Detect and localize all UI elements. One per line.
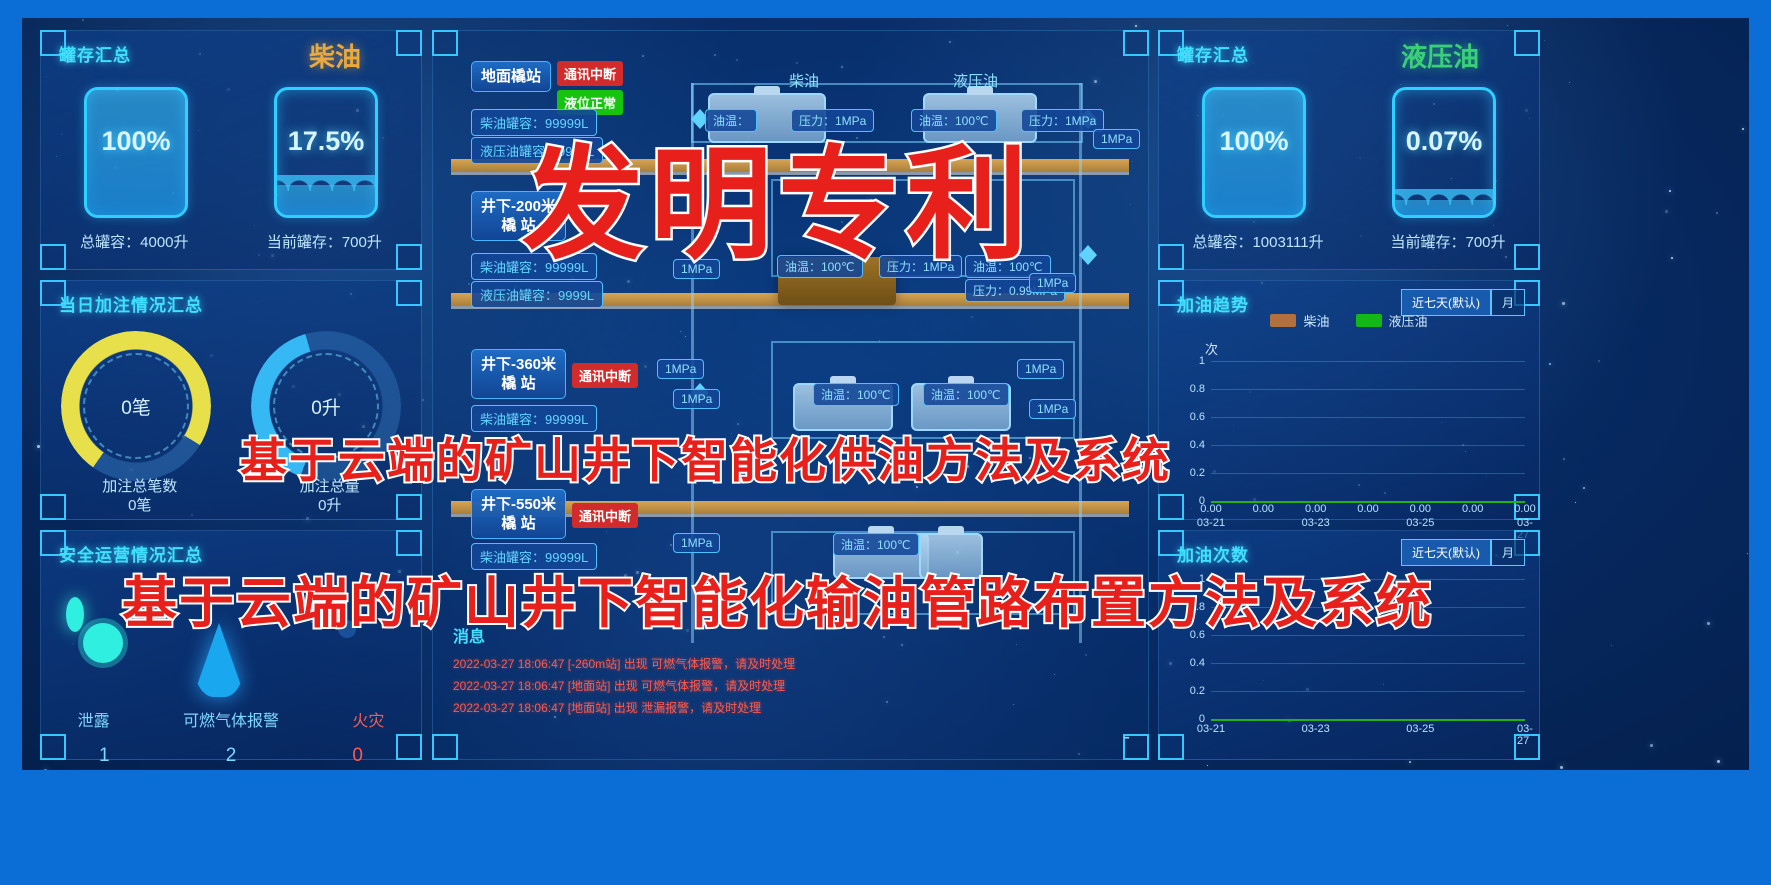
y-axis-tick: 0.4 [1190,657,1205,669]
data-point-label: 0.00 [1253,503,1274,515]
legend-label: 液压油 [1389,311,1428,330]
safety-label-row: 泄露 可燃气体报警 火灾 [41,707,421,731]
readout-oil-temp: 油温：100℃ [813,383,899,406]
y-axis-tick: 0.2 [1190,685,1205,697]
donut-gauge-count: 0笔 [61,331,211,481]
x-axis-tick: 03-27 [1517,723,1533,747]
donut-value: 0笔 [61,331,211,481]
series-line [1211,501,1525,503]
product-label: 柴油 [309,37,361,74]
y-axis-tick: 0.8 [1190,383,1205,395]
dashboard-stage: 罐存汇总 柴油 100% 17.5% 总罐容：4000升 当前罐存：700升 当… [22,18,1749,770]
legend-swatch [1270,314,1296,327]
station-tank-capacity: 液压油罐容：9999L [471,281,603,308]
equipment-label-diesel: 柴油 [781,67,827,94]
grid-line [1211,473,1525,474]
legend-label: 柴油 [1303,311,1329,330]
panel-title: 罐存汇总 [1177,41,1249,66]
y-axis-unit: 次 [1205,339,1218,358]
x-axis-tick: 03-23 [1302,517,1330,529]
watermark-line-1: 基于云端的矿山井下智能化供油方法及系统 [240,422,1171,491]
pressure-tag: 1MPa [1029,399,1076,419]
grid-line [1211,691,1525,692]
panel-title: 当日加注情况汇总 [59,291,203,316]
panel-diesel-storage: 罐存汇总 柴油 100% 17.5% 总罐容：4000升 当前罐存：700升 [40,30,422,270]
y-axis-tick: 0.6 [1190,411,1205,423]
tank-gauge-current: 0.07% [1392,87,1496,218]
y-axis-tick: 1 [1199,355,1205,367]
y-axis-tick: 0.4 [1190,439,1205,451]
dashboard-screen: 罐存汇总 柴油 100% 17.5% 总罐容：4000升 当前罐存：700升 当… [0,0,1771,885]
tank-gauge-row: 100% 0.07% [1159,77,1539,227]
x-axis-tick: 03-25 [1406,723,1434,735]
safety-value-row: 1 2 0 [41,745,421,767]
corner-icon [432,734,458,760]
chart-legend: 柴油 液压油 [1159,311,1539,330]
tank-gauge-total: 100% [84,87,188,218]
panel-hydraulic-storage: 罐存汇总 液压油 100% 0.07% 总罐容：1003111升 当前罐存：70… [1158,30,1540,270]
tank-gauge-row: 100% 17.5% [41,77,421,227]
grid-line [1211,361,1525,362]
corner-icon [432,30,458,56]
safety-value-gas: 2 [226,745,237,767]
safety-value-fire: 0 [352,745,363,767]
corner-icon [396,30,422,56]
legend-item-hydraulic[interactable]: 液压油 [1356,311,1428,330]
data-point-label: 0.00 [1514,503,1535,515]
status-badge-comm: 通讯中断 [572,363,638,388]
grid-line [1211,389,1525,390]
data-point-label: 0.00 [1410,503,1431,515]
corner-icon [396,530,422,556]
legend-item-diesel[interactable]: 柴油 [1270,311,1329,330]
safety-label-gas: 可燃气体报警 [183,707,279,731]
message-row: 2022-03-27 18:06:47 [-260m站] 出现 可燃气体报警，请… [453,653,1133,675]
corner-icon [1123,30,1149,56]
product-label: 液压油 [1401,37,1479,74]
series-line [1211,719,1525,721]
tank-caption-row: 总罐容：1003111升 当前罐存：700升 [1159,231,1539,252]
caption-line-2: 0升 [318,497,341,514]
caption-line-1: 加注总笔数 [102,478,177,495]
pressure-tag: 1MPa [673,389,720,409]
x-axis-tick: 03-25 [1406,517,1434,529]
safety-label-fire: 火灾 [352,707,384,731]
pressure-tag: 1MPa [1093,129,1140,149]
pressure-tag: 1MPa [673,533,720,553]
total-capacity-label: 总罐容：1003111升 [1192,231,1323,252]
safety-label-leak: 泄露 [78,707,110,731]
grid-line [1211,663,1525,664]
status-badge-comm: 通讯中断 [572,503,638,528]
corner-icon [396,280,422,306]
watermark-patent-title: 发明专利 [522,106,1034,283]
current-stock-label: 当前罐存：700升 [1391,231,1506,252]
x-axis-tick: 03-23 [1302,723,1330,735]
tank-percent-label: 0.07% [1395,126,1493,157]
equipment-label-hydraulic: 液压油 [945,67,1006,94]
watermark-line-2: 基于云端的矿山井下智能化输油管路布置方法及系统 [122,558,1433,638]
message-row: 2022-03-27 18:06:47 [地面站] 出现 泄漏报警，请及时处理 [453,697,1133,719]
pressure-tag: 1MPa [657,359,704,379]
pressure-tag: 1MPa [1017,359,1064,379]
y-axis-tick: 0.2 [1190,467,1205,479]
tank-gauge-total: 100% [1202,87,1306,218]
grid-line [1211,417,1525,418]
tank-caption-row: 总罐容：4000升 当前罐存：700升 [41,231,421,252]
tank-percent-label: 100% [87,126,185,157]
readout-oil-temp: 油温：100℃ [923,383,1009,406]
panel-refuel-trend-chart: 加油趋势 近七天(默认) 月 柴油 液压油 次 10.80.60.40.200.… [1158,280,1540,520]
corner-icon [1158,494,1184,520]
collapse-button[interactable]: - [1123,726,1130,749]
grid-line [1211,445,1525,446]
corner-icon [1514,30,1540,56]
station-name: 井下-550米 橇 站 [471,489,566,539]
caption-line-2: 0笔 [128,497,151,514]
tank-percent-label: 17.5% [277,126,375,157]
data-point-label: 0.00 [1305,503,1326,515]
data-point-label: 0.00 [1357,503,1378,515]
total-capacity-label: 总罐容：4000升 [80,231,188,252]
current-stock-label: 当前罐存：700升 [267,231,382,252]
legend-swatch [1356,314,1382,327]
tab-month[interactable]: 月 [1491,539,1525,566]
station-name: 地面橇站 [471,61,551,92]
tank-gauge-current: 17.5% [274,87,378,218]
station-550m[interactable]: 井下-550米 橇 站 通讯中断 [471,489,638,539]
refuel-count-caption: 加注总笔数 0笔 [102,477,177,515]
data-point-label: 0.00 [1462,503,1483,515]
x-axis-tick: 03-21 [1197,723,1225,735]
safety-value-leak: 1 [99,745,110,767]
readout-oil-temp: 油温：100℃ [833,533,919,556]
panel-title: 罐存汇总 [59,41,131,66]
status-badge-comm: 通讯中断 [557,61,623,86]
data-point-label: 0.00 [1200,503,1221,515]
chart-plot-area: 10.80.60.40.200.000.000.000.000.000.000.… [1211,361,1525,501]
station-360m[interactable]: 井下-360米 橇 站 通讯中断 [471,349,638,399]
pressure-tag: 1MPa [1029,273,1076,293]
station-name: 井下-360米 橇 站 [471,349,566,399]
message-row: 2022-03-27 18:06:47 [地面站] 出现 可燃气体报警，请及时处… [453,675,1133,697]
corner-icon [1158,734,1184,760]
tank-percent-label: 100% [1205,126,1303,157]
x-axis-tick: 03-21 [1197,517,1225,529]
